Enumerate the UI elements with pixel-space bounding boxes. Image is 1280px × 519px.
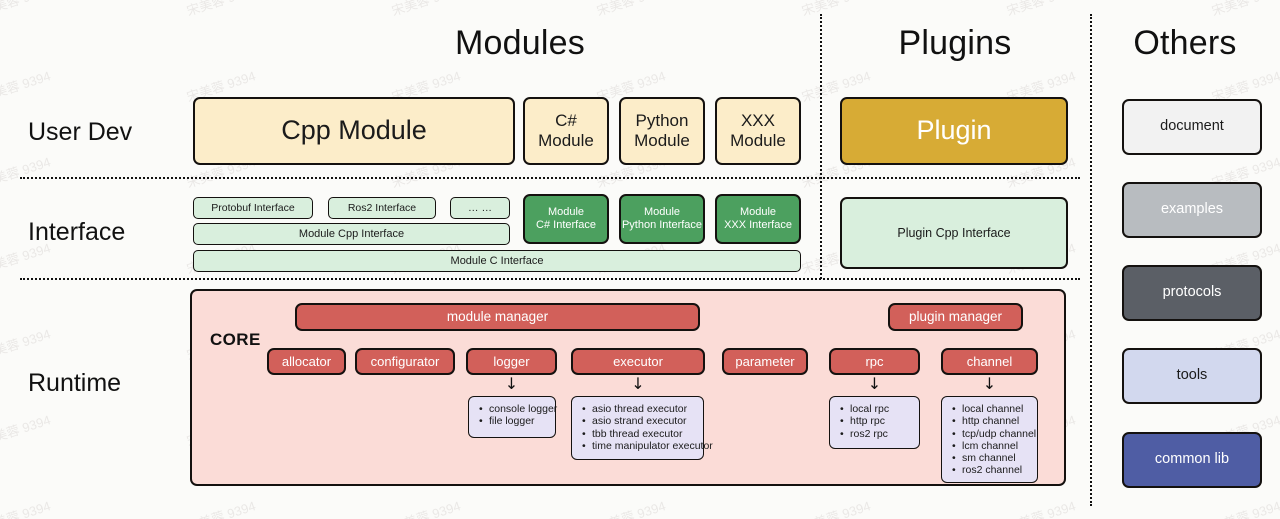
- column-title-modules: Modules: [340, 24, 700, 63]
- watermark-text: 宋美蓉 9394: [0, 409, 53, 449]
- row-label-user-dev: User Dev: [28, 118, 132, 147]
- allocator-box[interactable]: allocator: [267, 348, 346, 375]
- more-interface-label: … …: [468, 202, 492, 214]
- divider-plugins-others: [1090, 14, 1092, 506]
- python-module-box[interactable]: Python Module: [619, 97, 705, 165]
- cpp-module-box[interactable]: Cpp Module: [193, 97, 515, 165]
- arrow-down-icon-executor: ↓: [571, 376, 705, 392]
- configurator-box[interactable]: configurator: [355, 348, 455, 375]
- column-title-others: Others: [1090, 24, 1280, 63]
- row-label-interface: Interface: [28, 218, 125, 247]
- more-interface-box[interactable]: … …: [450, 197, 510, 219]
- watermark-text: 宋美蓉 9394: [799, 0, 873, 20]
- watermark-text: 宋美蓉 9394: [1209, 495, 1280, 519]
- others-document-box[interactable]: document: [1122, 99, 1262, 155]
- rpc-children-list: local rpchttp rpcros2 rpc: [829, 396, 920, 449]
- module-manager-box[interactable]: module manager: [295, 303, 700, 331]
- module-python-interface-box[interactable]: Module Python Interface: [619, 194, 705, 244]
- csharp-module-label: C# Module: [538, 111, 594, 151]
- plugin-manager-label: plugin manager: [909, 309, 1002, 325]
- channel-label: channel: [967, 354, 1013, 369]
- plugin-box[interactable]: Plugin: [840, 97, 1068, 165]
- divider-userdev-interface: [20, 177, 1080, 179]
- logger-children-list: console loggerfile logger: [468, 396, 556, 438]
- watermark-text: 宋美蓉 9394: [0, 0, 53, 20]
- logger-box[interactable]: logger: [466, 348, 557, 375]
- ros2-interface-box[interactable]: Ros2 Interface: [328, 197, 436, 219]
- parameter-box[interactable]: parameter: [722, 348, 808, 375]
- ros2-interface-label: Ros2 Interface: [348, 202, 416, 214]
- others-common-lib-box[interactable]: common lib: [1122, 432, 1262, 488]
- plugin-manager-box[interactable]: plugin manager: [888, 303, 1023, 331]
- python-module-label: Python Module: [634, 111, 690, 151]
- list-item: file logger: [489, 415, 551, 427]
- module-csharp-interface-box[interactable]: Module C# Interface: [523, 194, 609, 244]
- executor-children-list: asio thread executorasio strand executor…: [571, 396, 704, 460]
- arrow-down-icon-rpc: ↓: [829, 376, 920, 392]
- others-document-label: document: [1160, 118, 1224, 135]
- column-title-plugins: Plugins: [820, 24, 1090, 63]
- watermark-text: 宋美蓉 9394: [0, 151, 53, 191]
- list-item: sm channel: [962, 452, 1033, 464]
- watermark-text: 宋美蓉 9394: [1004, 495, 1078, 519]
- plugin-cpp-interface-box[interactable]: Plugin Cpp Interface: [840, 197, 1068, 269]
- csharp-module-box[interactable]: C# Module: [523, 97, 609, 165]
- arrow-down-icon-channel: ↓: [941, 376, 1038, 392]
- list-item: console logger: [489, 403, 551, 415]
- watermark-text: 宋美蓉 9394: [1004, 0, 1078, 20]
- channel-children-list: local channelhttp channeltcp/udp channel…: [941, 396, 1038, 483]
- divider-interface-runtime: [20, 278, 1080, 280]
- watermark-text: 宋美蓉 9394: [0, 323, 53, 363]
- watermark-text: 宋美蓉 9394: [594, 495, 668, 519]
- logger-label: logger: [493, 354, 529, 369]
- executor-label: executor: [613, 354, 663, 369]
- executor-box[interactable]: executor: [571, 348, 705, 375]
- others-protocols-box[interactable]: protocols: [1122, 265, 1262, 321]
- list-item: ros2 channel: [962, 464, 1033, 476]
- module-cpp-interface-label: Module Cpp Interface: [299, 228, 404, 241]
- list-item: http channel: [962, 415, 1033, 427]
- rpc-box[interactable]: rpc: [829, 348, 920, 375]
- plugin-cpp-interface-label: Plugin Cpp Interface: [897, 226, 1010, 241]
- cpp-module-label: Cpp Module: [281, 115, 427, 147]
- module-c-interface-label: Module C Interface: [451, 255, 544, 268]
- rpc-children-items: local rpchttp rpcros2 rpc: [836, 403, 915, 440]
- row-label-runtime: Runtime: [28, 369, 121, 398]
- watermark-text: 宋美蓉 9394: [1209, 0, 1280, 20]
- module-manager-label: module manager: [447, 309, 548, 325]
- channel-box[interactable]: channel: [941, 348, 1038, 375]
- protobuf-interface-label: Protobuf Interface: [211, 202, 294, 214]
- watermark-text: 宋美蓉 9394: [184, 495, 258, 519]
- core-label: CORE: [210, 330, 261, 350]
- others-examples-box[interactable]: examples: [1122, 182, 1262, 238]
- watermark-text: 宋美蓉 9394: [184, 0, 258, 20]
- watermark-text: 宋美蓉 9394: [389, 0, 463, 20]
- module-xxx-interface-label: Module XXX Interface: [724, 206, 792, 232]
- list-item: http rpc: [850, 415, 915, 427]
- others-common-lib-label: common lib: [1155, 451, 1229, 468]
- module-python-interface-label: Module Python Interface: [622, 206, 702, 232]
- list-item: local rpc: [850, 403, 915, 415]
- module-c-interface-box[interactable]: Module C Interface: [193, 250, 801, 272]
- plugin-label: Plugin: [916, 115, 991, 147]
- module-xxx-interface-box[interactable]: Module XXX Interface: [715, 194, 801, 244]
- list-item: asio thread executor: [592, 403, 699, 415]
- watermark-text: 宋美蓉 9394: [0, 495, 53, 519]
- watermark-text: 宋美蓉 9394: [594, 0, 668, 20]
- rpc-label: rpc: [865, 354, 883, 369]
- list-item: asio strand executor: [592, 415, 699, 427]
- list-item: lcm channel: [962, 440, 1033, 452]
- list-item: ros2 rpc: [850, 428, 915, 440]
- xxx-module-label: XXX Module: [730, 111, 786, 151]
- module-csharp-interface-label: Module C# Interface: [536, 206, 596, 232]
- parameter-label: parameter: [735, 354, 794, 369]
- list-item: tbb thread executor: [592, 428, 699, 440]
- list-item: local channel: [962, 403, 1033, 415]
- watermark-text: 宋美蓉 9394: [0, 65, 53, 105]
- xxx-module-box[interactable]: XXX Module: [715, 97, 801, 165]
- others-tools-label: tools: [1177, 367, 1208, 384]
- arrow-down-icon-logger: ↓: [466, 376, 557, 392]
- allocator-label: allocator: [282, 354, 331, 369]
- protobuf-interface-box[interactable]: Protobuf Interface: [193, 197, 313, 219]
- watermark-text: 宋美蓉 9394: [799, 495, 873, 519]
- others-tools-box[interactable]: tools: [1122, 348, 1262, 404]
- executor-children-items: asio thread executorasio strand executor…: [578, 403, 699, 452]
- channel-children-items: local channelhttp channeltcp/udp channel…: [948, 403, 1033, 477]
- configurator-label: configurator: [371, 354, 440, 369]
- architecture-diagram: 宋美蓉 9394宋美蓉 9394宋美蓉 9394宋美蓉 9394宋美蓉 9394…: [0, 0, 1280, 519]
- logger-children-items: console loggerfile logger: [475, 403, 551, 428]
- watermark-text: 宋美蓉 9394: [389, 495, 463, 519]
- list-item: time manipulator executor: [592, 440, 699, 452]
- list-item: tcp/udp channel: [962, 428, 1033, 440]
- others-examples-label: examples: [1161, 201, 1223, 218]
- module-cpp-interface-box[interactable]: Module Cpp Interface: [193, 223, 510, 245]
- others-protocols-label: protocols: [1163, 284, 1222, 301]
